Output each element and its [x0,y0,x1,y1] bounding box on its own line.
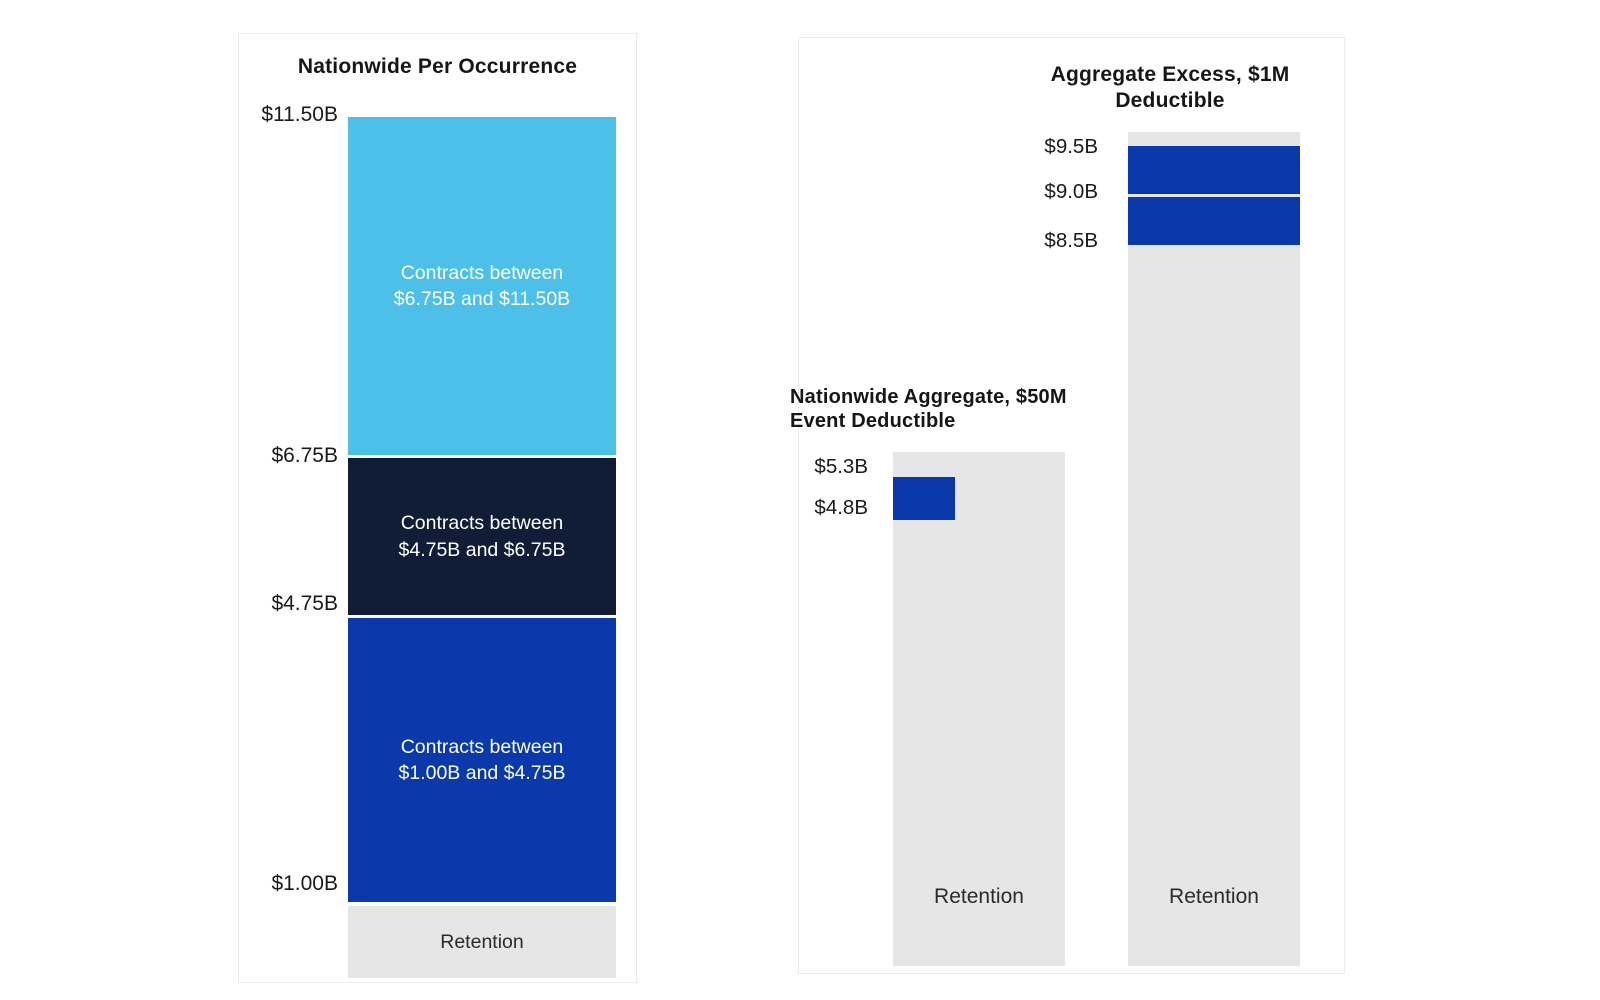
layer-4.75b-6.75b-label: Contracts between $4.75B and $6.75B [399,510,566,563]
aggregate-excess-layer-9.0b-9.5b [1128,146,1300,194]
layer-6.75b-11.50b: Contracts between $6.75B and $11.50B [348,117,616,455]
aggregate-excess-retention-label: Retention [1169,885,1259,909]
chart-canvas: Nationwide Per Occurrence Contracts betw… [0,0,1600,1000]
tick-label-11.50b: $11.50B [200,103,338,127]
nationwide-aggregate-layer-4.8b-5.3b [893,477,955,520]
nationwide-aggregate-retention-label-box: Retention [893,862,1065,932]
layer-6.75b-11.50b-label: Contracts between $6.75B and $11.50B [394,260,570,313]
aggregate-excess-retention-label-box: Retention [1128,862,1300,932]
tick-label-8.5b: $8.5B [1000,229,1098,253]
tick-label-4.8b: $4.8B [770,496,868,520]
tick-label-6.75b: $6.75B [200,444,338,468]
nationwide-aggregate-retention-label: Retention [934,885,1024,909]
layer-4.75b-6.75b: Contracts between $4.75B and $6.75B [348,458,616,615]
per-occurrence-retention-label: Retention [440,929,523,955]
aggregate-excess-retention-column [1128,132,1300,966]
per-occurrence-retention: Retention [348,906,616,978]
layer-1.00b-4.75b: Contracts between $1.00B and $4.75B [348,618,616,902]
aggregate-excess-title: Aggregate Excess, $1M Deductible [1005,62,1335,113]
per-occurrence-title: Nationwide Per Occurrence [248,54,627,80]
tick-label-9.0b: $9.0B [1000,180,1098,204]
tick-label-1.00b: $1.00B [200,872,338,896]
aggregate-excess-layer-8.5b-9.0b [1128,197,1300,245]
tick-label-5.3b: $5.3B [770,455,868,479]
layer-1.00b-4.75b-label: Contracts between $1.00B and $4.75B [399,734,566,787]
tick-label-9.5b: $9.5B [1000,135,1098,159]
tick-label-4.75b: $4.75B [200,592,338,616]
nationwide-aggregate-title: Nationwide Aggregate, $50M Event Deducti… [790,385,1080,434]
